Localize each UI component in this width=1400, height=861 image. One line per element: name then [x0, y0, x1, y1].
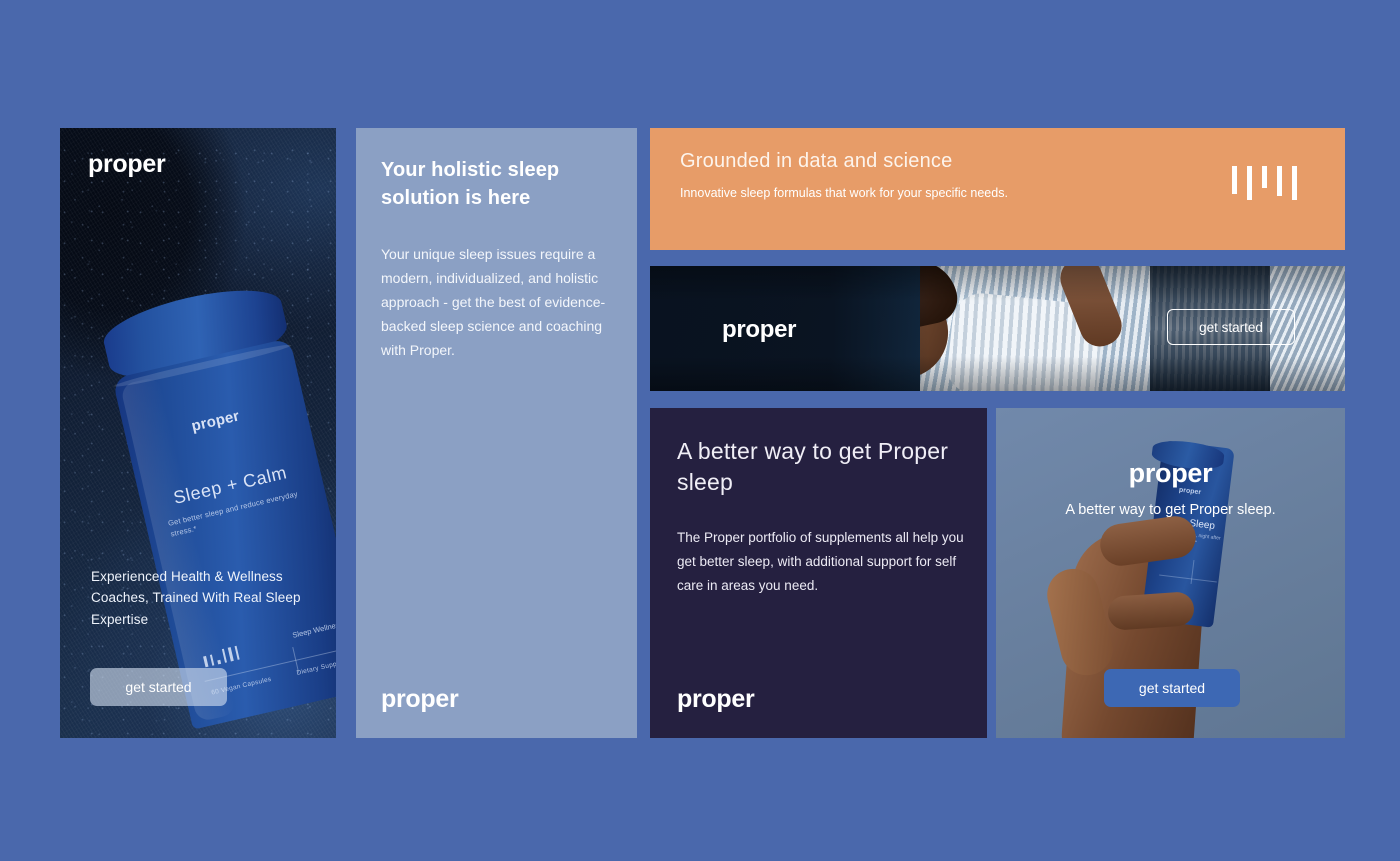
photo-banner-brand-logo: proper — [722, 316, 796, 344]
ad-creative-board: proper Sleep + Calm Get better sleep and… — [60, 128, 1345, 738]
tick-marks-icon — [1232, 166, 1297, 200]
orange-banner-heading: Grounded in data and science — [680, 150, 1315, 173]
hero-headline: Experienced Health & Wellness Coaches, T… — [91, 566, 303, 631]
hero-get-started-button[interactable]: get started — [90, 668, 227, 706]
photo-banner-get-started-button[interactable]: get started — [1167, 309, 1295, 345]
text-card-brand-logo: proper — [381, 685, 458, 714]
hero-brand-logo: proper — [88, 150, 165, 179]
grounded-in-data-banner[interactable]: Grounded in data and science Innovative … — [650, 128, 1345, 250]
text-card-body: Your unique sleep issues require a moder… — [381, 242, 609, 362]
better-way-card[interactable]: A better way to get Proper sleep The Pro… — [650, 408, 987, 738]
hand-card-tagline: A better way to get Proper sleep. — [996, 502, 1345, 518]
dark-card-brand-logo: proper — [677, 685, 754, 714]
dark-card-body: The Proper portfolio of supplements all … — [677, 526, 969, 598]
holistic-solution-card[interactable]: Your holistic sleep solution is here You… — [356, 128, 637, 738]
hero-product-card[interactable]: proper Sleep + Calm Get better sleep and… — [60, 128, 336, 738]
finger-mid-photo — [1107, 591, 1195, 631]
dark-card-heading: A better way to get Proper sleep — [677, 436, 960, 498]
text-card-heading: Your holistic sleep solution is here — [381, 156, 606, 212]
hand-card-get-started-button[interactable]: get started — [1104, 669, 1240, 707]
sleeping-couple-banner[interactable]: proper get started — [650, 266, 1345, 391]
hand-holding-product-card[interactable]: proper Core Sleep Get better sleep, nigh… — [996, 408, 1345, 738]
orange-banner-body: Innovative sleep formulas that work for … — [680, 183, 1010, 203]
hand-card-brand-logo: proper — [996, 458, 1345, 489]
